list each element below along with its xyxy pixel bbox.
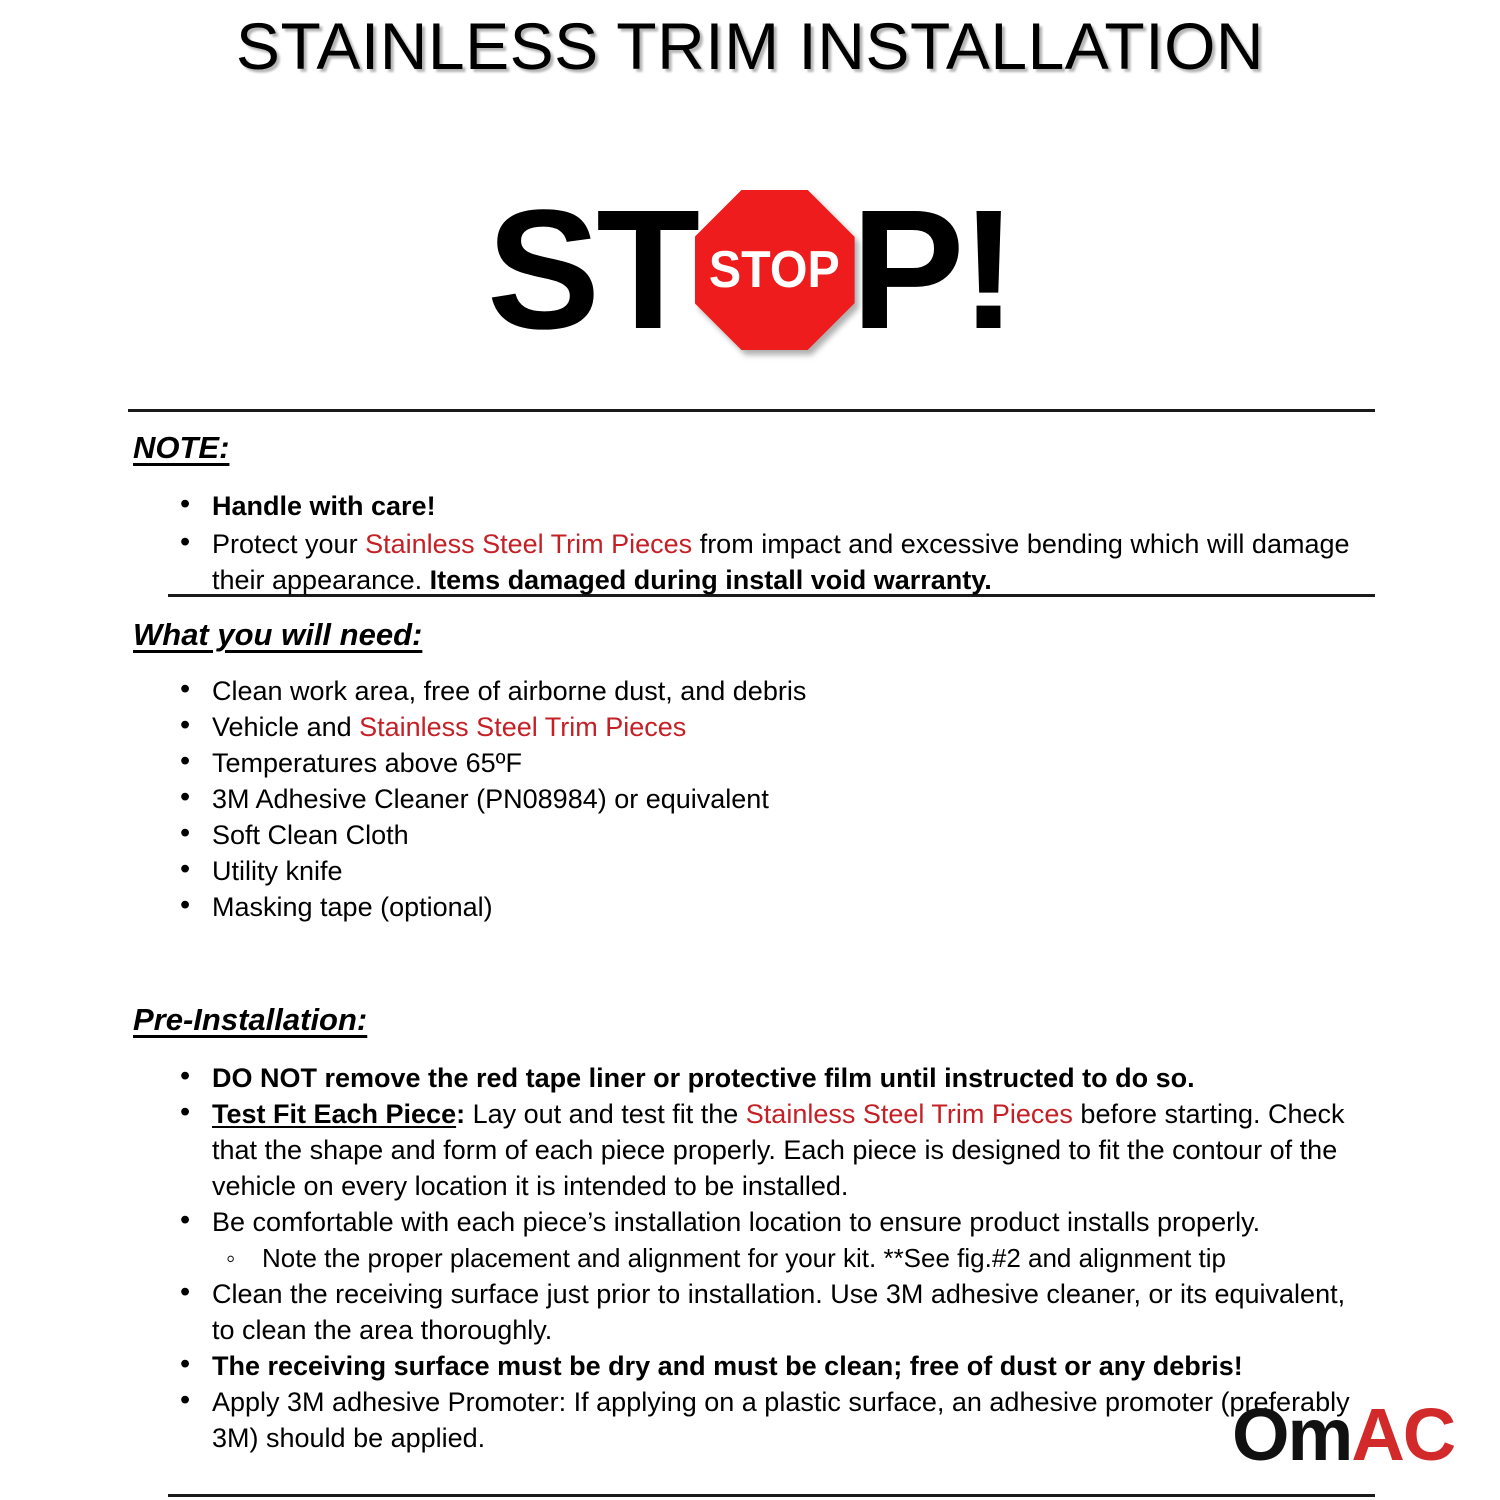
need-item-2-pre: Vehicle and xyxy=(212,712,359,742)
pre-item-2-colon: : xyxy=(456,1099,465,1129)
sub-list-item: Note the proper placement and alignment … xyxy=(174,1240,1374,1276)
list-item: Protect your Stainless Steel Trim Pieces… xyxy=(174,526,1374,598)
note-item-2-highlight: Stainless Steel Trim Pieces xyxy=(365,529,692,559)
pre-item-2-highlight: Stainless Steel Trim Pieces xyxy=(746,1099,1073,1129)
divider-top xyxy=(128,409,1375,412)
need-item-2-highlight: Stainless Steel Trim Pieces xyxy=(359,712,686,742)
list-item: Test Fit Each Piece: Lay out and test fi… xyxy=(174,1096,1374,1204)
list-item: Be comfortable with each piece’s install… xyxy=(174,1204,1374,1240)
list-item: Apply 3M adhesive Promoter: If applying … xyxy=(174,1384,1374,1456)
stop-graphic-left-letters: ST xyxy=(487,185,696,355)
pre-installation-heading: Pre-Installation: xyxy=(133,1002,367,1038)
list-item: Clean work area, free of airborne dust, … xyxy=(174,673,1324,709)
note-list: Handle with care! Protect your Stainless… xyxy=(174,488,1374,600)
list-item: Temperatures above 65ºF xyxy=(174,745,1324,781)
stop-graphic-right-letters: P! xyxy=(851,185,1013,355)
list-item: Utility knife xyxy=(174,853,1324,889)
list-item: 3M Adhesive Cleaner (PN08984) or equival… xyxy=(174,781,1324,817)
omac-logo-dark-part: Om xyxy=(1232,1393,1351,1476)
pre-item-2-lead: Test Fit Each Piece xyxy=(212,1099,456,1129)
list-item: The receiving surface must be dry and mu… xyxy=(174,1348,1374,1384)
pre-item-3-text: Be comfortable with each piece’s install… xyxy=(212,1207,1260,1237)
pre-item-4-text: Note the proper placement and alignment … xyxy=(262,1243,1226,1273)
note-heading: NOTE: xyxy=(133,430,229,466)
installation-instructions-page: STAINLESS TRIM INSTALLATION ST STOP P! N… xyxy=(0,0,1500,1500)
stop-sign-icon: STOP xyxy=(692,188,857,353)
pre-item-1-text: DO NOT remove the red tape liner or prot… xyxy=(212,1063,1195,1093)
list-item: Masking tape (optional) xyxy=(174,889,1324,925)
what-you-need-heading: What you will need: xyxy=(133,617,422,653)
need-item-1-text: Clean work area, free of airborne dust, … xyxy=(212,676,806,706)
stop-sign-label: STOP xyxy=(709,240,840,300)
divider-bottom xyxy=(168,1494,1375,1497)
omac-logo-red-part: AC xyxy=(1351,1393,1454,1476)
need-item-5-text: Soft Clean Cloth xyxy=(212,820,409,850)
need-item-3-text: Temperatures above 65ºF xyxy=(212,748,522,778)
note-item-1-text: Handle with care! xyxy=(212,491,436,521)
pre-item-5-text: Clean the receiving surface just prior t… xyxy=(212,1279,1345,1345)
need-item-7-text: Masking tape (optional) xyxy=(212,892,493,922)
stop-sign-octagon: STOP xyxy=(695,190,855,350)
list-item: Soft Clean Cloth xyxy=(174,817,1324,853)
what-you-need-list: Clean work area, free of airborne dust, … xyxy=(174,673,1324,925)
note-item-2-bold-tail: Items damaged during install void warran… xyxy=(430,565,992,595)
need-item-6-text: Utility knife xyxy=(212,856,343,886)
list-item: Clean the receiving surface just prior t… xyxy=(174,1276,1374,1348)
omac-logo: OmAC xyxy=(1232,1398,1454,1472)
page-title: STAINLESS TRIM INSTALLATION xyxy=(0,8,1500,84)
pre-item-6-text: The receiving surface must be dry and mu… xyxy=(212,1351,1243,1381)
list-item: Handle with care! xyxy=(174,488,1374,524)
note-item-2-pre: Protect your xyxy=(212,529,365,559)
pre-item-2-pre: Lay out and test fit the xyxy=(465,1099,746,1129)
need-item-4-text: 3M Adhesive Cleaner (PN08984) or equival… xyxy=(212,784,769,814)
list-item: Vehicle and Stainless Steel Trim Pieces xyxy=(174,709,1324,745)
pre-installation-list: DO NOT remove the red tape liner or prot… xyxy=(174,1060,1374,1456)
list-item: DO NOT remove the red tape liner or prot… xyxy=(174,1060,1374,1096)
stop-graphic: ST STOP P! xyxy=(0,175,1500,365)
pre-item-7-text: Apply 3M adhesive Promoter: If applying … xyxy=(212,1387,1350,1453)
